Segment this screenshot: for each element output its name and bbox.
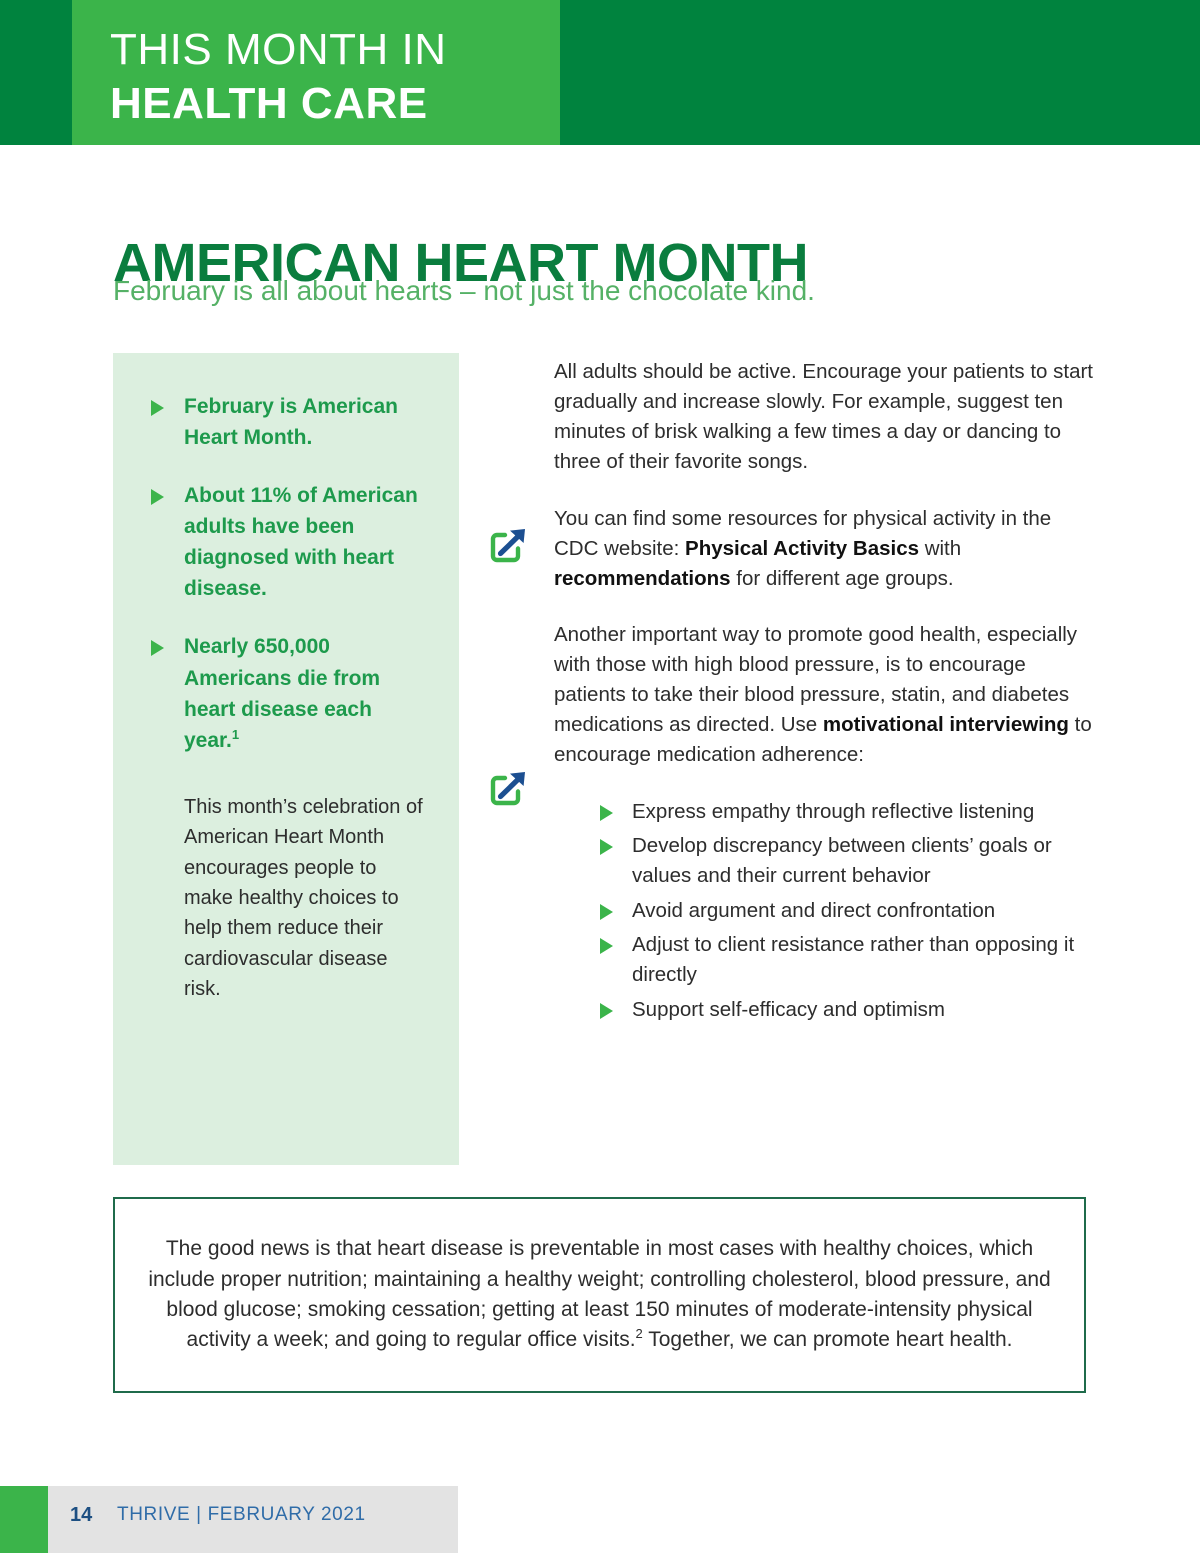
page-number: 14 — [70, 1505, 92, 1525]
sidebar-bullet-text: About 11% of American adults have been d… — [184, 484, 418, 600]
page-subtitle: February is all about hearts – not just … — [113, 274, 815, 308]
sidebar-bullet-text: February is American Heart Month. — [184, 395, 398, 449]
footer-accent-block — [0, 1486, 48, 1553]
list-item-label: Avoid argument and direct confrontation — [632, 899, 995, 922]
callout-text: The good news is that heart disease is p… — [115, 1234, 1084, 1356]
masthead-line-2: HEALTH CARE — [110, 82, 428, 126]
list-item-label: Adjust to client resistance rather than … — [632, 933, 1074, 986]
triangle-bullet-icon — [600, 904, 613, 920]
list-item-label: Express empathy through reflective liste… — [632, 800, 1034, 823]
body-paragraph-cdc-resources: You can find some resources for physical… — [554, 504, 1094, 594]
list-item: Develop discrepancy between clients’ goa… — [600, 831, 1094, 890]
emphasis-motivational-interviewing: motivational interviewing — [823, 713, 1069, 736]
external-link-icon[interactable] — [488, 766, 530, 808]
list-item-label: Support self-efficacy and optimism — [632, 998, 945, 1021]
body-paragraph-activity: All adults should be active. Encourage y… — [554, 357, 1094, 478]
list-item: February is American Heart Month. — [151, 391, 429, 453]
footnote-marker: 1 — [232, 727, 239, 742]
triangle-bullet-icon — [600, 938, 613, 954]
list-item: About 11% of American adults have been d… — [151, 480, 429, 604]
main-column: All adults should be active. Encourage y… — [554, 357, 1094, 1030]
highlights-sidebar: February is American Heart Month. About … — [113, 353, 459, 1165]
list-item: Express empathy through reflective liste… — [600, 797, 1094, 827]
sidebar-paragraph: This month’s celebration of American Hea… — [184, 792, 429, 1005]
masthead-band: THIS MONTH IN HEALTH CARE — [0, 0, 1200, 145]
list-item: Support self-efficacy and optimism — [600, 995, 1094, 1025]
paragraph-text-post: for different age groups. — [731, 567, 954, 590]
list-item: Adjust to client resistance rather than … — [600, 930, 1094, 989]
sidebar-bullet-list: February is American Heart Month. About … — [151, 391, 429, 756]
footnote-marker: 2 — [636, 1326, 643, 1341]
triangle-bullet-icon — [151, 489, 164, 505]
triangle-bullet-icon — [600, 1003, 613, 1019]
list-item-label: Develop discrepancy between clients’ goa… — [632, 834, 1052, 887]
footer-publication-meta: THRIVE | FEBRUARY 2021 — [117, 1505, 366, 1524]
motivational-interviewing-list: Express empathy through reflective liste… — [554, 797, 1094, 1025]
list-item: Nearly 650,000 Americans die from heart … — [151, 631, 429, 755]
emphasis-physical-activity-basics: Physical Activity Basics — [685, 537, 919, 560]
masthead-line-1: THIS MONTH IN — [110, 28, 446, 72]
sidebar-bullet-text: Nearly 650,000 Americans die from heart … — [184, 635, 380, 751]
triangle-bullet-icon — [600, 839, 613, 855]
body-paragraph-medication-adherence: Another important way to promote good he… — [554, 620, 1094, 771]
emphasis-recommendations: recommendations — [554, 567, 731, 590]
paragraph-text-mid: with — [919, 537, 961, 560]
callout-box: The good news is that heart disease is p… — [113, 1197, 1086, 1393]
callout-text-post: Together, we can promote heart health. — [643, 1328, 1013, 1351]
triangle-bullet-icon — [600, 805, 613, 821]
list-item: Avoid argument and direct confrontation — [600, 896, 1094, 926]
triangle-bullet-icon — [151, 640, 164, 656]
external-link-icon[interactable] — [488, 523, 530, 565]
triangle-bullet-icon — [151, 400, 164, 416]
